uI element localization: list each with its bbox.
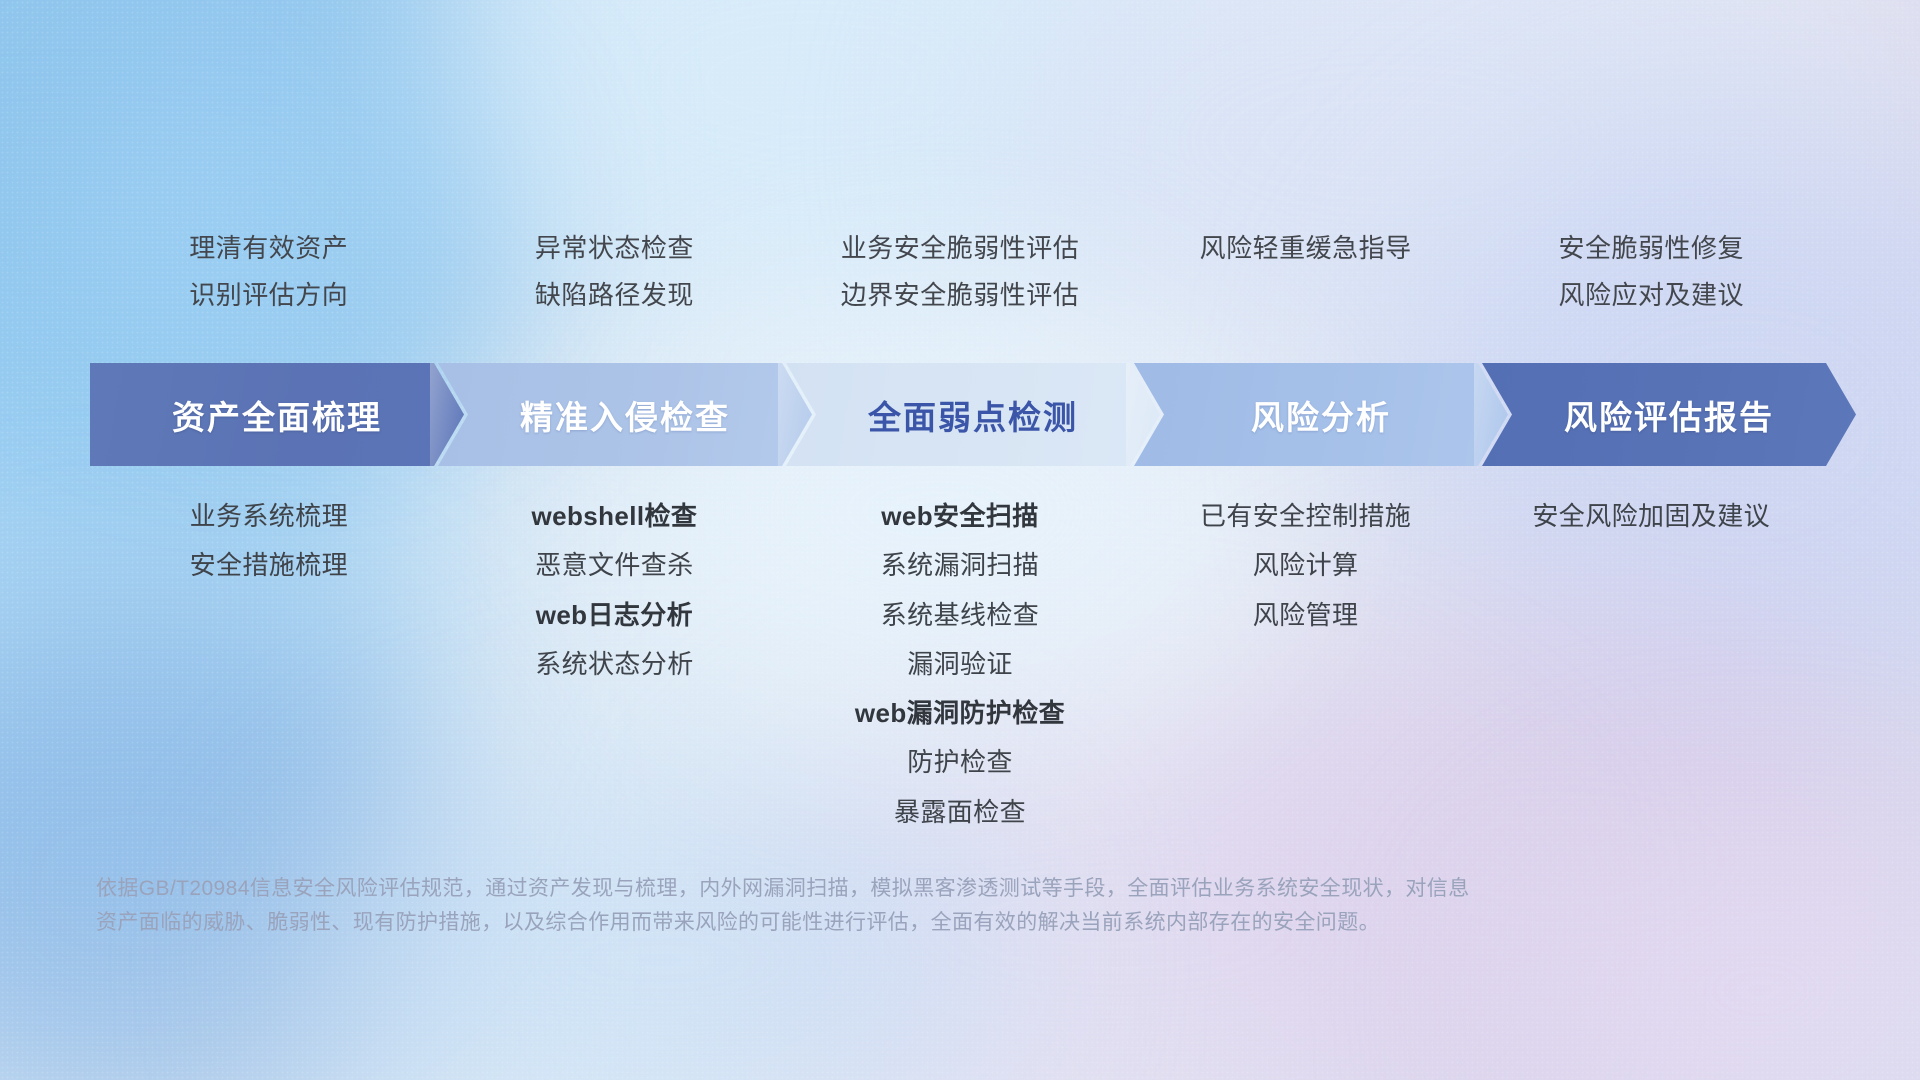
list-item: web安全扫描 bbox=[881, 500, 1038, 533]
list-item: 防护检查 bbox=[907, 746, 1013, 779]
process-step-asset-inventory[interactable]: 资产全面梳理 bbox=[90, 363, 464, 466]
process-step-label: 精准入侵检查 bbox=[520, 391, 730, 439]
list-item: 业务系统梳理 bbox=[190, 500, 348, 533]
top-label-group-intrusion-check: 异常状态检查缺陷路径发现 bbox=[442, 232, 788, 311]
list-item: 恶意文件查杀 bbox=[535, 549, 693, 582]
list-item: 系统基线检查 bbox=[881, 599, 1039, 632]
list-item: 风险管理 bbox=[1253, 599, 1359, 632]
process-step-label: 全面弱点检测 bbox=[868, 391, 1078, 439]
top-label-group-risk-report: 安全脆弱性修复风险应对及建议 bbox=[1478, 232, 1824, 311]
process-step-weakness-detection[interactable]: 全面弱点检测 bbox=[786, 363, 1160, 466]
bottom-list-group-risk-report: 安全风险加固及建议 bbox=[1478, 500, 1824, 829]
bottom-list-group-weakness-detection: web安全扫描系统漏洞扫描系统基线检查漏洞验证web漏洞防护检查防护检查暴露面检… bbox=[787, 500, 1133, 829]
top-label-group-asset-inventory: 理清有效资产识别评估方向 bbox=[96, 232, 442, 311]
list-item: web日志分析 bbox=[536, 599, 693, 632]
list-item: 安全风险加固及建议 bbox=[1532, 500, 1770, 533]
background-blob bbox=[60, 60, 480, 360]
background-blob bbox=[1500, 820, 1920, 1080]
list-item: webshell检查 bbox=[531, 500, 697, 533]
top-label: 风险应对及建议 bbox=[1558, 279, 1744, 312]
footer-line-2: 资产面临的威胁、脆弱性、现有防护措施，以及综合作用而带来风险的可能性进行评估，全… bbox=[96, 906, 1626, 940]
top-label: 安全脆弱性修复 bbox=[1558, 232, 1744, 265]
top-label: 边界安全脆弱性评估 bbox=[841, 279, 1080, 312]
top-label: 识别评估方向 bbox=[189, 279, 348, 312]
footer-description: 依据GB/T20984信息安全风险评估规范，通过资产发现与梳理，内外网漏洞扫描，… bbox=[96, 872, 1626, 940]
process-step-risk-report[interactable]: 风险评估报告 bbox=[1482, 363, 1856, 466]
process-step-risk-analysis[interactable]: 风险分析 bbox=[1134, 363, 1508, 466]
top-label-group-weakness-detection: 业务安全脆弱性评估边界安全脆弱性评估 bbox=[787, 232, 1133, 311]
bottom-list-row: 业务系统梳理安全措施梳理webshell检查恶意文件查杀web日志分析系统状态分… bbox=[96, 500, 1824, 829]
top-label: 风险轻重缓急指导 bbox=[1200, 232, 1412, 265]
slide-canvas: 理清有效资产识别评估方向异常状态检查缺陷路径发现业务安全脆弱性评估边界安全脆弱性… bbox=[0, 0, 1920, 1080]
top-label: 理清有效资产 bbox=[189, 232, 348, 265]
list-item: 安全措施梳理 bbox=[190, 549, 348, 582]
process-step-intrusion-check[interactable]: 精准入侵检查 bbox=[438, 363, 812, 466]
list-item: 风险计算 bbox=[1253, 549, 1359, 582]
top-label: 异常状态检查 bbox=[535, 232, 694, 265]
top-label-row: 理清有效资产识别评估方向异常状态检查缺陷路径发现业务安全脆弱性评估边界安全脆弱性… bbox=[96, 232, 1824, 311]
footer-line-1: 依据GB/T20984信息安全风险评估规范，通过资产发现与梳理，内外网漏洞扫描，… bbox=[96, 872, 1626, 906]
process-step-label: 风险分析 bbox=[1251, 391, 1391, 439]
list-item: web漏洞防护检查 bbox=[855, 697, 1065, 730]
list-item: 系统状态分析 bbox=[535, 648, 693, 681]
top-label-group-risk-analysis: 风险轻重缓急指导 bbox=[1133, 232, 1479, 311]
background-blob bbox=[980, 0, 1800, 400]
top-label: 业务安全脆弱性评估 bbox=[841, 232, 1080, 265]
process-step-label: 资产全面梳理 bbox=[172, 391, 382, 439]
list-item: 漏洞验证 bbox=[907, 648, 1013, 681]
bottom-list-group-intrusion-check: webshell检查恶意文件查杀web日志分析系统状态分析 bbox=[442, 500, 788, 829]
process-step-label: 风险评估报告 bbox=[1564, 391, 1774, 439]
process-arrow-band: 资产全面梳理精准入侵检查全面弱点检测风险分析风险评估报告 bbox=[90, 363, 1830, 466]
list-item: 系统漏洞扫描 bbox=[881, 549, 1039, 582]
bottom-list-group-risk-analysis: 已有安全控制措施风险计算风险管理 bbox=[1133, 500, 1479, 829]
top-label: 缺陷路径发现 bbox=[535, 279, 694, 312]
list-item: 已有安全控制措施 bbox=[1200, 500, 1411, 533]
bottom-list-group-asset-inventory: 业务系统梳理安全措施梳理 bbox=[96, 500, 442, 829]
list-item: 暴露面检查 bbox=[894, 796, 1026, 829]
